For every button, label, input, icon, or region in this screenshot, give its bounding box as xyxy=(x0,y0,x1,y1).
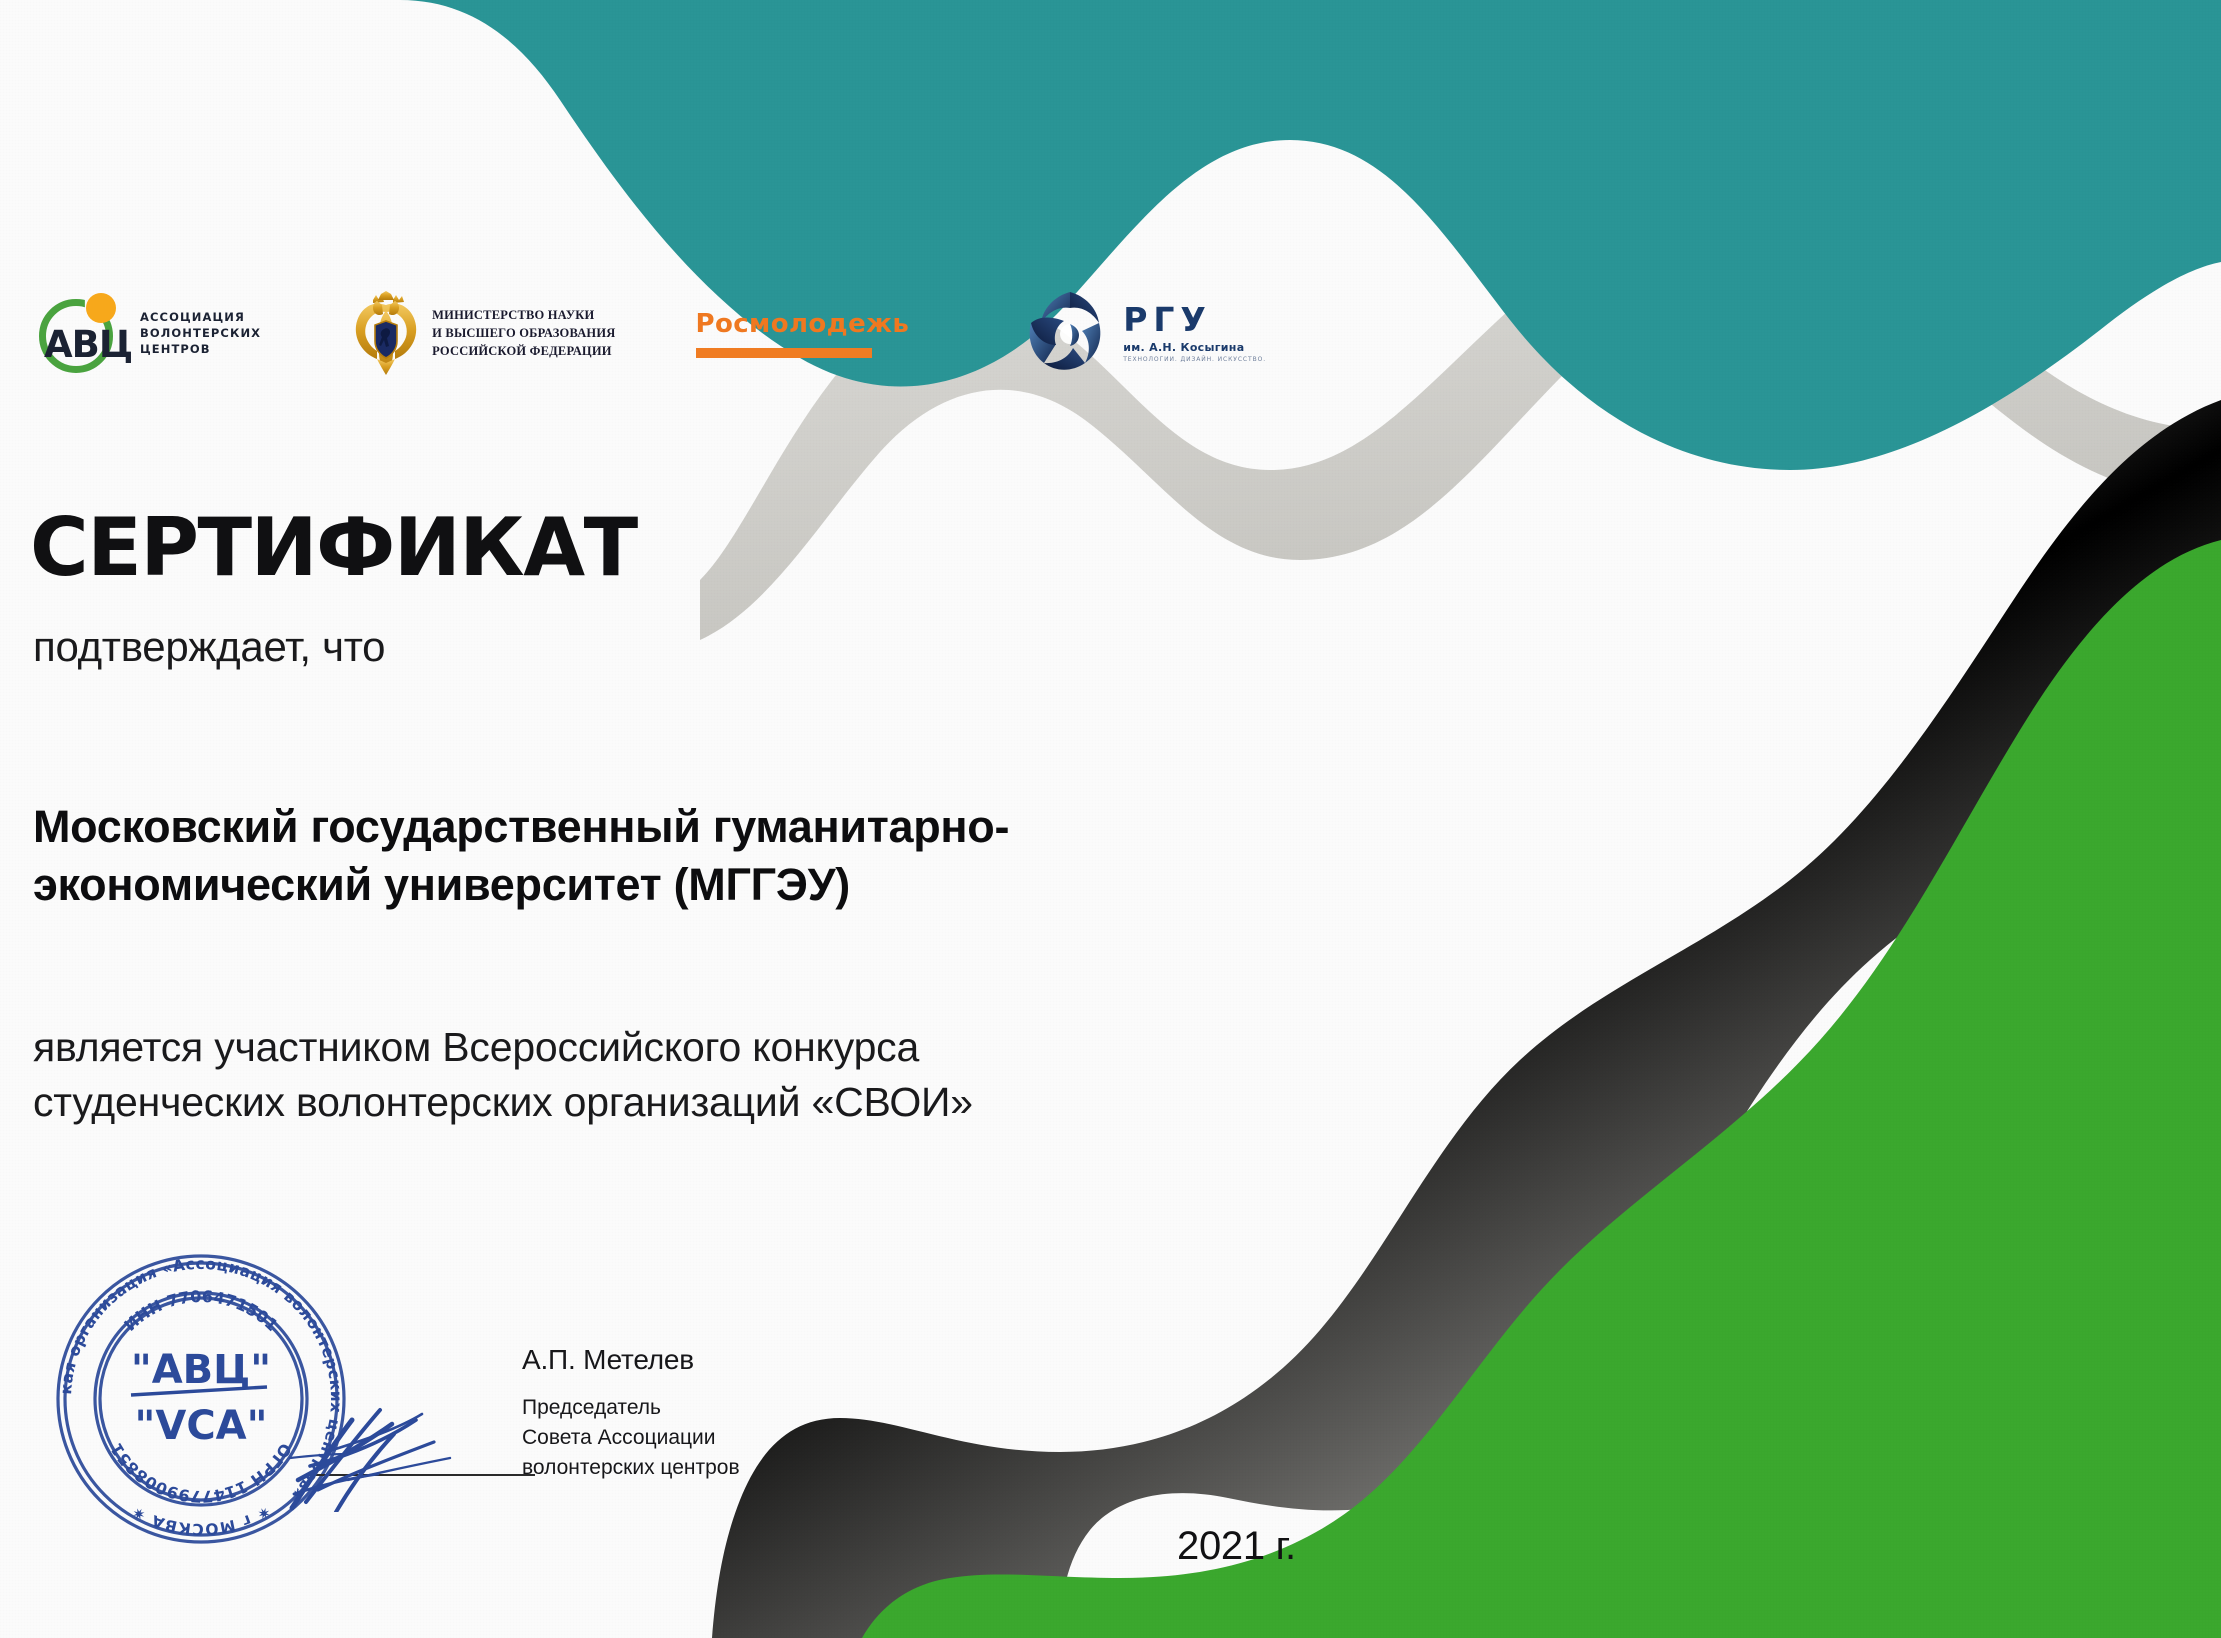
certificate-subtitle: подтверждает, что xyxy=(33,626,385,668)
certificate-description: является участником Всероссийского конку… xyxy=(33,1020,1393,1129)
avc-caption: АССОЦИАЦИЯ ВОЛОНТЕРСКИХ ЦЕНТРОВ xyxy=(140,309,261,358)
certificate-page: АВЦ АССОЦИАЦИЯ ВОЛОНТЕРСКИХ ЦЕНТРОВ xyxy=(0,0,2221,1638)
stamp-ogrn: ОГРН 1147799008851 xyxy=(107,1440,296,1506)
handwritten-signature xyxy=(288,1362,538,1512)
russian-eagle-emblem-icon xyxy=(353,291,419,375)
stamp-center-vca: "VCA" xyxy=(135,1403,268,1449)
logo-rgu: РГУ им. А.Н. Косыгина ТЕХНОЛОГИИ. ДИЗАЙН… xyxy=(1027,290,1266,376)
avc-letters: АВЦ xyxy=(44,323,132,366)
stamp-inn: ИНН 7706471501 xyxy=(120,1287,281,1335)
recipient-name: Московский государственный гуманитарно- … xyxy=(33,798,1323,913)
logo-ministry: МИНИСТЕРСТВО НАУКИ И ВЫСШЕГО ОБРАЗОВАНИЯ… xyxy=(353,291,615,375)
certificate-year: 2021 г. xyxy=(1177,1524,1296,1569)
avc-circle-logo-icon: АВЦ xyxy=(36,287,128,379)
rgu-tagline: ТЕХНОЛОГИИ. ДИЗАЙН. ИСКУССТВО. xyxy=(1123,356,1266,363)
signer-block: А.П. Метелев Председатель Совета Ассоциа… xyxy=(522,1346,740,1482)
rosmolodezh-bar-icon xyxy=(696,348,872,358)
logo-rosmolodezh: Росмолодежь xyxy=(696,309,910,358)
signer-role: Председатель Совета Ассоциации волонтерс… xyxy=(522,1393,740,1482)
logo-strip: АВЦ АССОЦИАЦИЯ ВОЛОНТЕРСКИХ ЦЕНТРОВ xyxy=(36,278,1266,388)
rosmolodezh-wordmark: Росмолодежь xyxy=(696,309,910,339)
rgu-subtitle: им. А.Н. Косыгина xyxy=(1123,341,1266,354)
signer-name: А.П. Метелев xyxy=(522,1346,740,1374)
wave-gray-bottom xyxy=(712,400,2221,1638)
rgu-aperture-logo-icon xyxy=(1027,290,1113,376)
ministry-caption: МИНИСТЕРСТВО НАУКИ И ВЫСШЕГО ОБРАЗОВАНИЯ… xyxy=(432,306,615,360)
logo-avc: АВЦ АССОЦИАЦИЯ ВОЛОНТЕРСКИХ ЦЕНТРОВ xyxy=(36,287,261,379)
rgu-wordmark: РГУ xyxy=(1123,303,1266,336)
wave-teal xyxy=(400,0,2221,470)
certificate-title: СЕРТИФИКАТ xyxy=(30,508,637,588)
stamp-center-avc: "АВЦ" xyxy=(131,1347,271,1393)
